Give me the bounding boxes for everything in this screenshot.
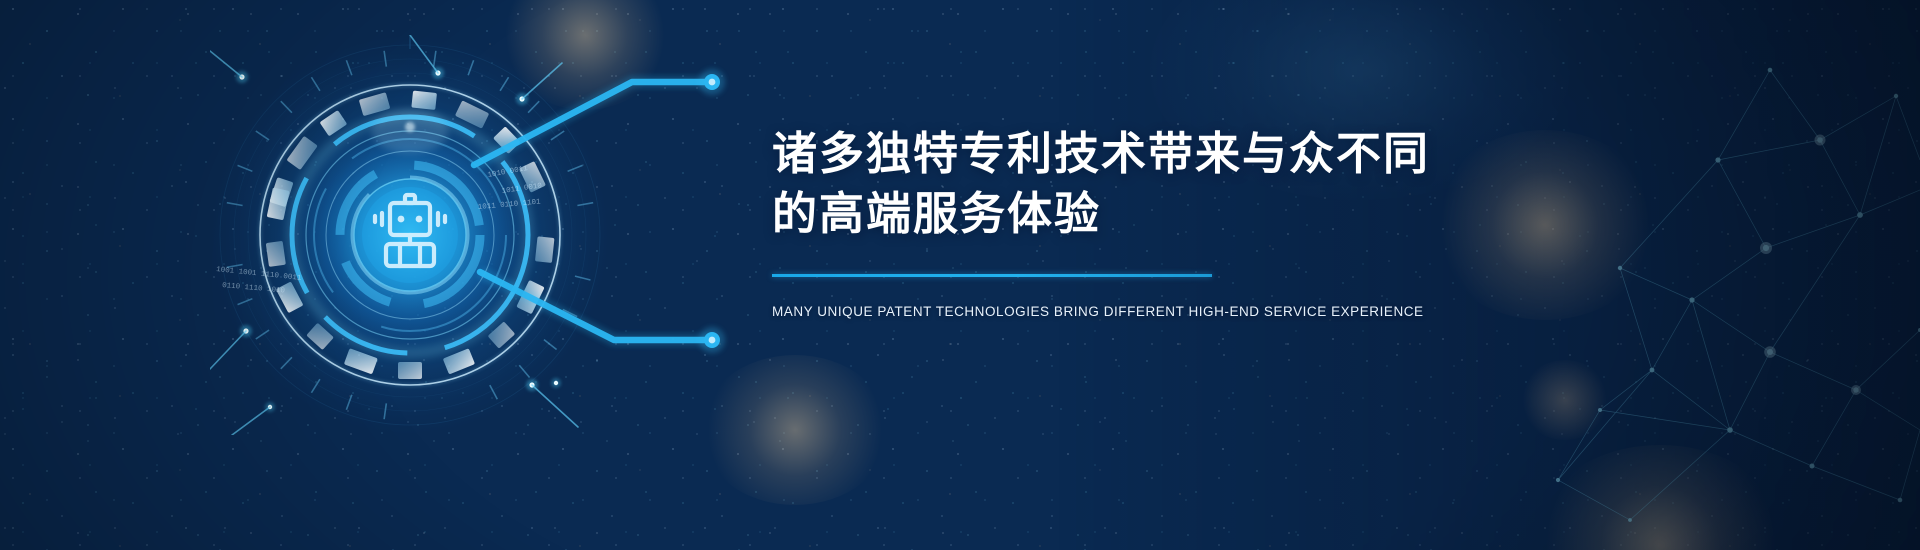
hero-text-block: 诸多独特专利技术带来与众不同 的高端服务体验 MANY UNIQUE PATEN…	[772, 124, 1592, 319]
headline-line-1: 诸多独特专利技术带来与众不同	[772, 124, 1592, 184]
headline-line-2: 的高端服务体验	[772, 184, 1592, 244]
subtitle-text: MANY UNIQUE PATENT TECHNOLOGIES BRING DI…	[772, 304, 1592, 319]
hero-banner: 1010 0011 1011 0010 1011 0110 1101 1001 …	[0, 0, 1920, 550]
accent-divider	[772, 274, 1212, 277]
